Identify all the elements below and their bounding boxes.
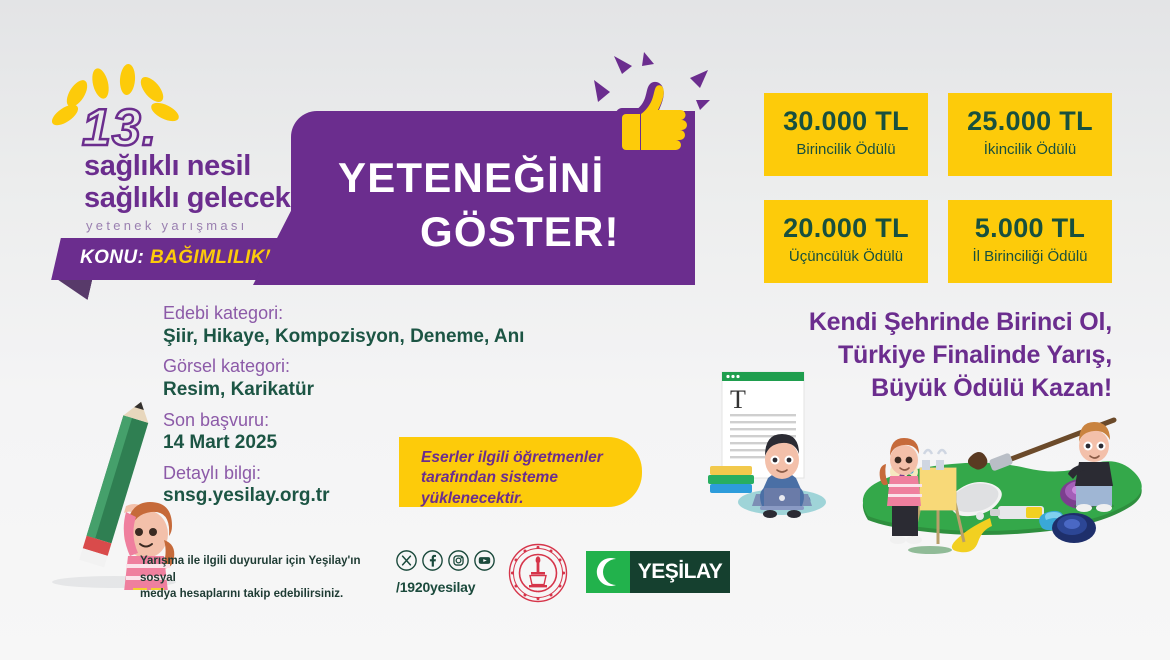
footer-note-line-2: medya hesaplarını takip edebilirsiniz. — [140, 586, 390, 603]
prize-label: Birincilik Ödülü — [764, 142, 928, 157]
paint-palette-with-children-illustration — [846, 408, 1158, 560]
tagline-line-1: Kendi Şehrinde Birinci Ol, — [712, 306, 1112, 339]
detail-value-literary: Şiir, Hikaye, Kompozisyon, Deneme, Anı — [163, 325, 583, 349]
footer-note-line-1: Yarışma ile ilgili duyurular için Yeşila… — [140, 553, 390, 586]
instagram-icon[interactable] — [448, 550, 469, 576]
note-line-2: tarafından sisteme — [421, 468, 622, 488]
prize-amount: 30.000 TL — [764, 108, 928, 135]
prize-label: Üçüncülük Ödülü — [764, 249, 928, 264]
upload-note-callout: Eserler ilgili öğretmenler tarafından si… — [399, 437, 642, 507]
footer-social-note: Yarışma ile ilgili duyurular için Yeşila… — [140, 553, 390, 603]
prize-amount: 5.000 TL — [948, 215, 1112, 242]
brand-subtitle: yetenek yarışması — [86, 218, 248, 233]
brand-line-1: sağlıklı nesil — [84, 152, 251, 181]
prize-label: İkincilik Ödülü — [948, 142, 1112, 157]
prize-box-first: 30.000 TL Birincilik Ödülü — [764, 93, 928, 176]
crescent-icon — [586, 551, 630, 593]
prize-amount: 25.000 TL — [948, 108, 1112, 135]
note-line-3: yüklenecektir. — [421, 489, 622, 509]
detail-label-deadline: Son başvuru: — [163, 409, 583, 432]
youtube-icon[interactable] — [474, 550, 495, 576]
svg-text:T: T — [730, 385, 746, 414]
detail-value-visual: Resim, Karikatür — [163, 378, 583, 402]
note-line-1: Eserler ilgili öğretmenler — [421, 448, 622, 468]
meb-ministry-seal-icon: T.C. — [508, 543, 568, 603]
prize-box-second: 25.000 TL İkincilik Ödülü — [948, 93, 1112, 176]
x-twitter-icon[interactable] — [396, 550, 417, 576]
prize-box-third: 20.000 TL Üçüncülük Ödülü — [764, 200, 928, 283]
facebook-icon[interactable] — [422, 550, 443, 576]
headline-line-2: GÖSTER! — [420, 211, 620, 253]
detail-label-visual: Görsel kategori: — [163, 355, 583, 378]
headline-line-1: YETENEĞİNİ — [338, 157, 604, 199]
topic-prefix: KONU: — [80, 247, 144, 268]
detail-label-literary: Edebi kategori: — [163, 302, 583, 325]
yesilay-logo: YEŞİLAY — [586, 551, 730, 593]
social-handle[interactable]: /1920yesilay — [396, 579, 496, 595]
prize-box-province-first: 5.000 TL İl Birinciliği Ödülü — [948, 200, 1112, 283]
prize-label: İl Birinciliği Ödülü — [948, 249, 1112, 264]
boy-with-laptop-and-document-illustration: T — [694, 362, 856, 520]
poster-canvas: 13. sağlıklı nesil sağlıklı gelecek yete… — [0, 0, 1170, 660]
social-links: /1920yesilay — [396, 550, 496, 595]
prize-amount: 20.000 TL — [764, 215, 928, 242]
edition-number: 13. — [82, 102, 157, 154]
svg-text:T.C.: T.C. — [535, 590, 541, 594]
brand-line-2: sağlıklı gelecek — [84, 184, 290, 213]
thumbs-up-icon — [592, 52, 710, 160]
ribbon-fold-shadow — [54, 280, 93, 300]
yesilay-wordmark: YEŞİLAY — [630, 551, 730, 593]
